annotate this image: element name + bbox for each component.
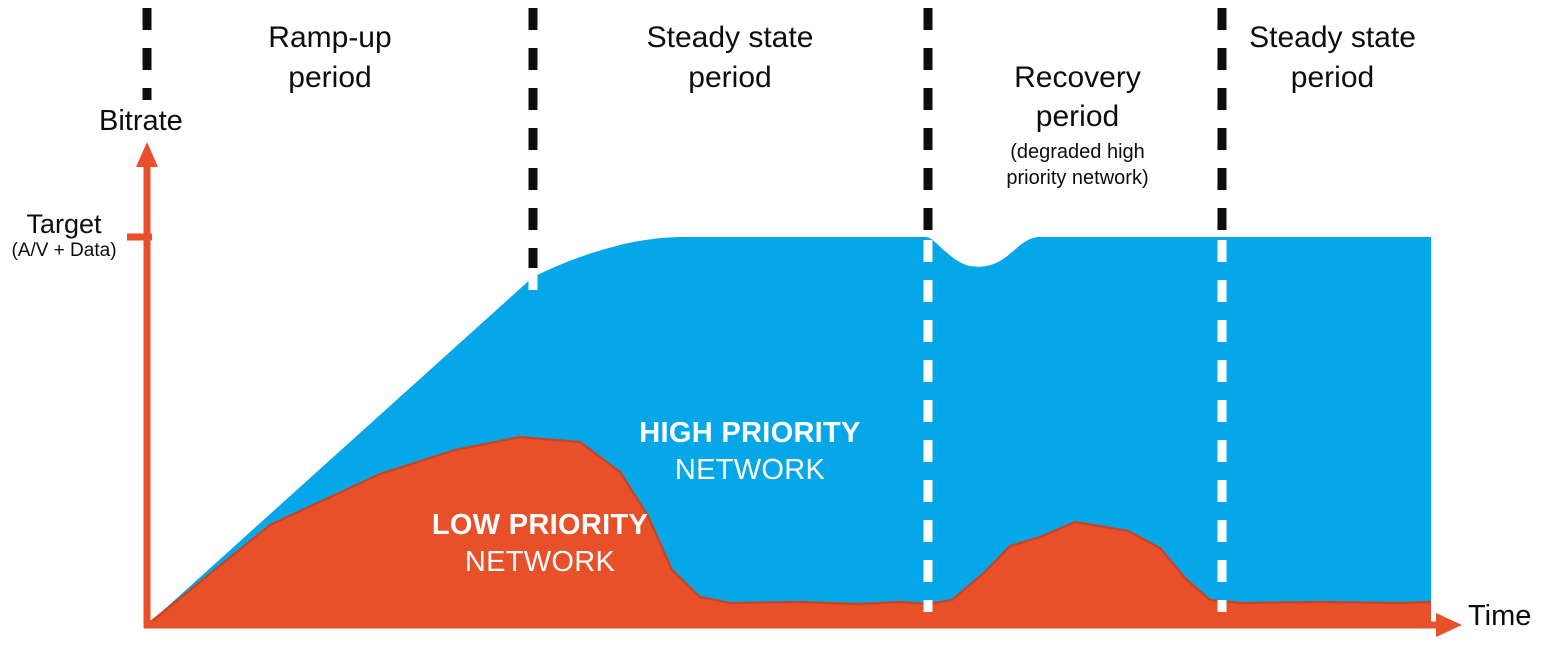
target-axis-label: Target (A/V + Data)	[0, 209, 128, 263]
target-label-main: Target	[26, 209, 101, 239]
chart-canvas: Ramp-up period Steady state period Recov…	[0, 0, 1545, 655]
x-axis-label: Time	[1468, 600, 1531, 633]
y-axis-label: Bitrate	[99, 105, 183, 138]
x-axis-arrowhead	[1436, 613, 1462, 637]
y-axis-arrowhead	[136, 142, 158, 167]
stacked-area-chart	[0, 0, 1545, 655]
period-divider-black-group	[147, 8, 1222, 268]
target-label-sub: (A/V + Data)	[0, 240, 128, 263]
